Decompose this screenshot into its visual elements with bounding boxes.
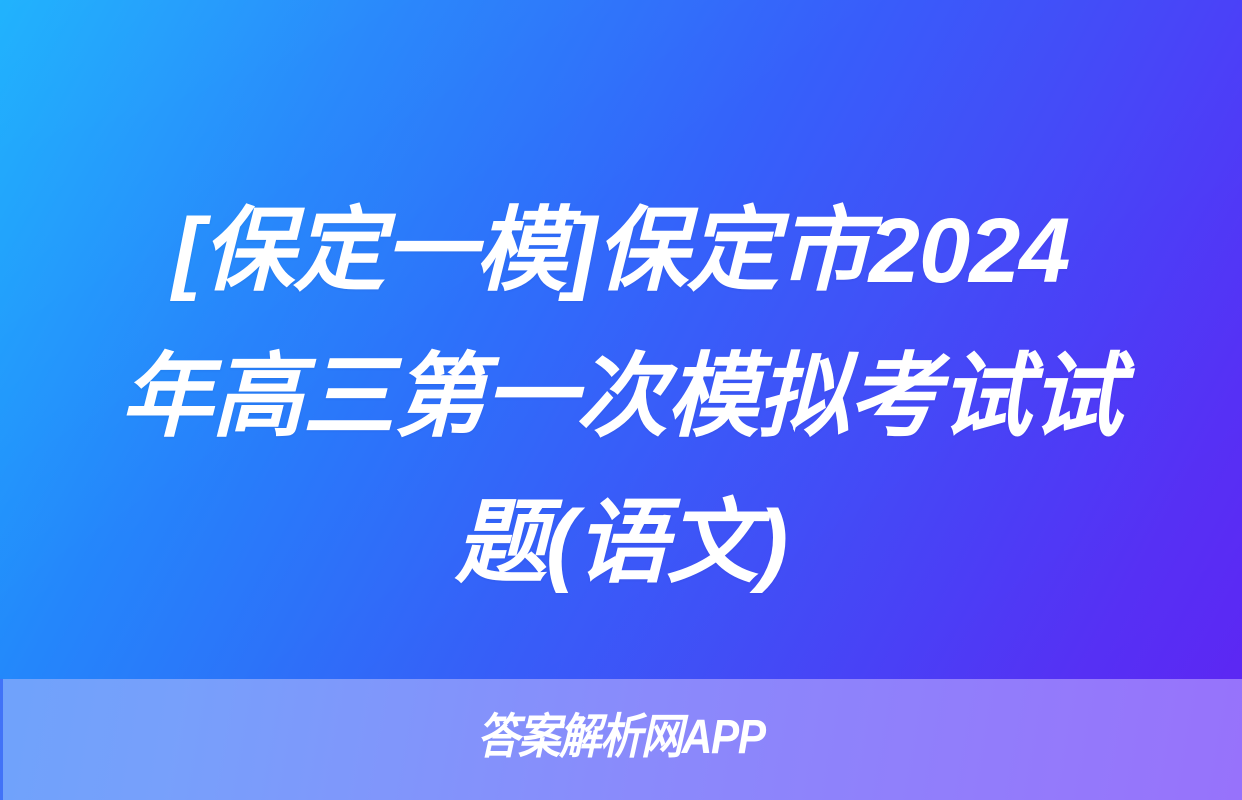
poster-canvas: [保定一模]保定市2024 年高三第一次模拟考试试 题(语文) 答案解析网APP <box>0 0 1242 800</box>
page-title: [保定一模]保定市2024 年高三第一次模拟考试试 题(语文) <box>0 178 1242 616</box>
footer-left-edge-accent <box>0 679 3 800</box>
page-title-line-3: 题(语文) <box>0 470 1242 616</box>
footer-watermark-band: 答案解析网APP <box>0 679 1242 800</box>
page-title-line-2: 年高三第一次模拟考试试 <box>0 324 1242 470</box>
page-title-line-1: [保定一模]保定市2024 <box>0 178 1242 324</box>
app-watermark-label: 答案解析网APP <box>75 709 1168 767</box>
